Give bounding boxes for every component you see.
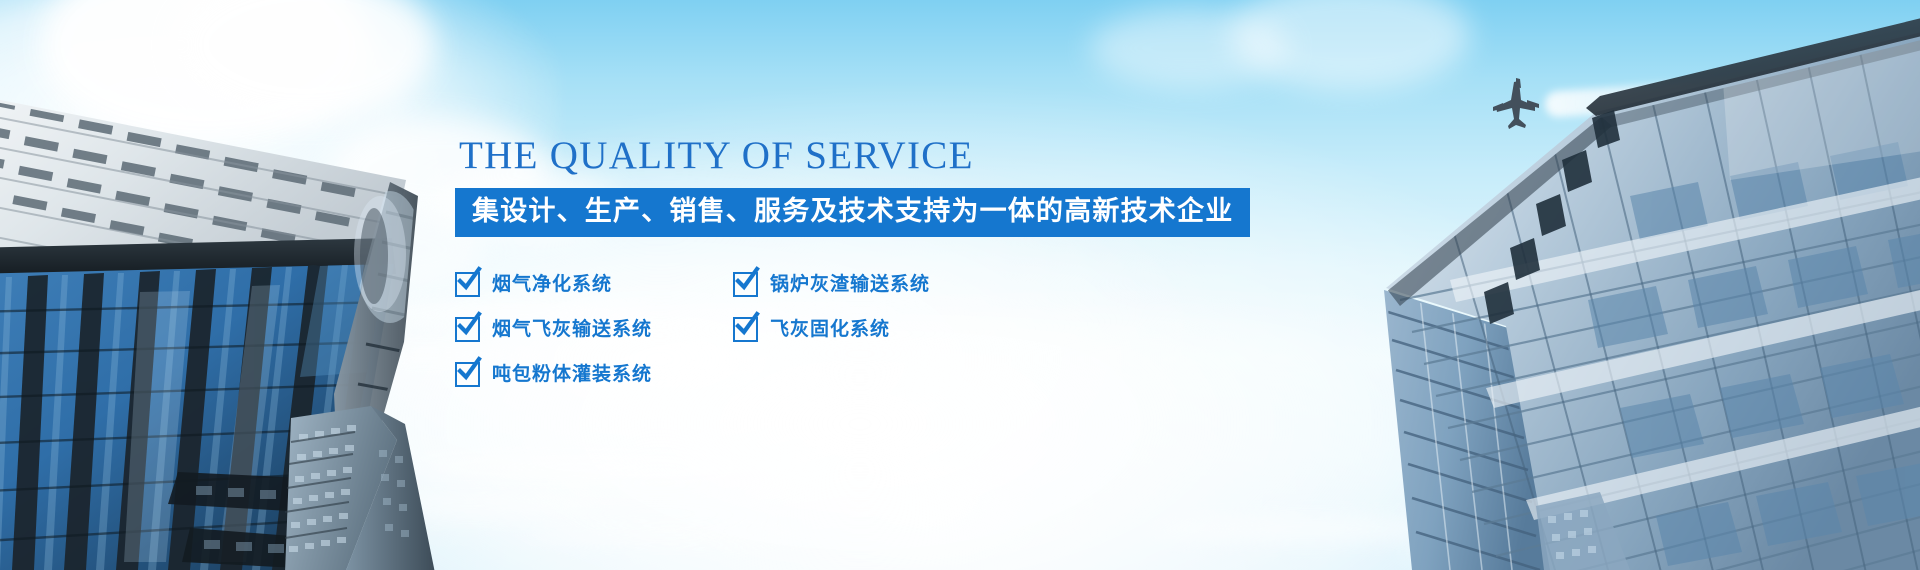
feature-label: 烟气净化系统 xyxy=(492,275,612,294)
slogan-bar: 集设计、生产、销售、服务及技术支持为一体的高新技术企业 xyxy=(455,188,1250,237)
feature-label: 锅炉灰渣输送系统 xyxy=(770,275,930,294)
feature-list: 烟气净化系统 锅炉灰渣输送系统 烟气飞灰输送系统 xyxy=(455,272,1095,387)
feature-item[interactable]: 锅炉灰渣输送系统 xyxy=(733,272,930,297)
feature-label: 吨包粉体灌装系统 xyxy=(492,365,652,384)
slogan-text: 集设计、生产、销售、服务及技术支持为一体的高新技术企业 xyxy=(472,196,1233,226)
checkbox-checked-icon xyxy=(733,317,758,342)
feature-label: 烟气飞灰输送系统 xyxy=(492,320,652,339)
checkbox-checked-icon xyxy=(455,317,480,342)
hero-banner: THE QUALITY OF SERVICE 集设计、生产、销售、服务及技术支持… xyxy=(0,0,1920,570)
cloud-shape xyxy=(1090,8,1290,88)
checkbox-checked-icon xyxy=(733,272,758,297)
feature-item[interactable]: 吨包粉体灌装系统 xyxy=(455,362,733,387)
checkbox-checked-icon xyxy=(455,272,480,297)
feature-item[interactable]: 烟气净化系统 xyxy=(455,272,733,297)
feature-row: 吨包粉体灌装系统 xyxy=(455,362,1095,387)
banner-content: THE QUALITY OF SERVICE 集设计、生产、销售、服务及技术支持… xyxy=(455,136,1455,407)
distant-building xyxy=(285,398,445,570)
checkbox-checked-icon xyxy=(455,362,480,387)
feature-item[interactable]: 烟气飞灰输送系统 xyxy=(455,317,733,342)
feature-row: 烟气飞灰输送系统 飞灰固化系统 xyxy=(455,317,1095,342)
feature-label: 飞灰固化系统 xyxy=(770,320,890,339)
feature-row: 烟气净化系统 锅炉灰渣输送系统 xyxy=(455,272,1095,297)
page-title: THE QUALITY OF SERVICE xyxy=(459,136,1455,175)
feature-item[interactable]: 飞灰固化系统 xyxy=(733,317,890,342)
